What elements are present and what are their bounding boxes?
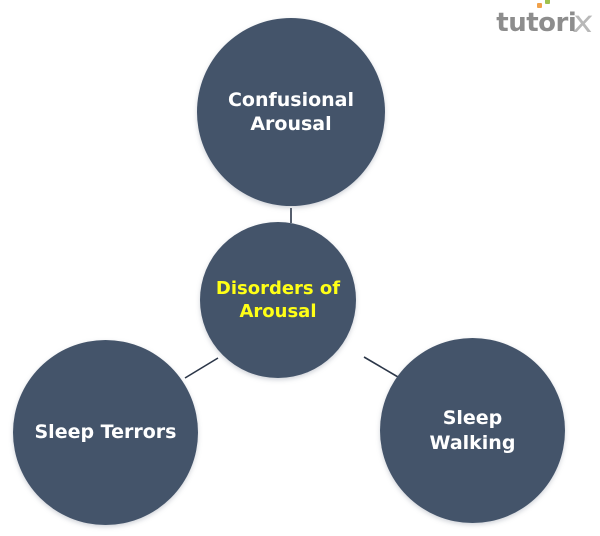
connector-center-to-sleep-terrors xyxy=(185,358,218,378)
diagram-canvas: tutori x Confusional Arousal Disorders o… xyxy=(0,0,600,536)
node-disorders-of-arousal[interactable]: Disorders of Arousal xyxy=(200,222,356,378)
connector-center-to-sleep-walking xyxy=(364,357,398,377)
node-sleep-terrors-label: Sleep Terrors xyxy=(25,420,187,444)
node-sleep-walking-label: Sleep Walking xyxy=(420,406,526,455)
logo-wordmark: tutori xyxy=(496,10,576,36)
tutorix-logo: tutori x xyxy=(496,6,592,40)
node-disorders-of-arousal-label: Disorders of Arousal xyxy=(206,277,350,323)
node-sleep-walking[interactable]: Sleep Walking xyxy=(380,338,565,523)
logo-dot-orange-icon xyxy=(537,3,542,8)
logo-dot-green-icon xyxy=(545,0,550,4)
logo-x-glyph: x xyxy=(572,8,595,38)
logo-wordmark-text: tutori xyxy=(496,8,576,38)
node-confusional-arousal[interactable]: Confusional Arousal xyxy=(197,18,385,206)
node-confusional-arousal-label: Confusional Arousal xyxy=(218,88,364,137)
node-sleep-terrors[interactable]: Sleep Terrors xyxy=(13,340,198,525)
